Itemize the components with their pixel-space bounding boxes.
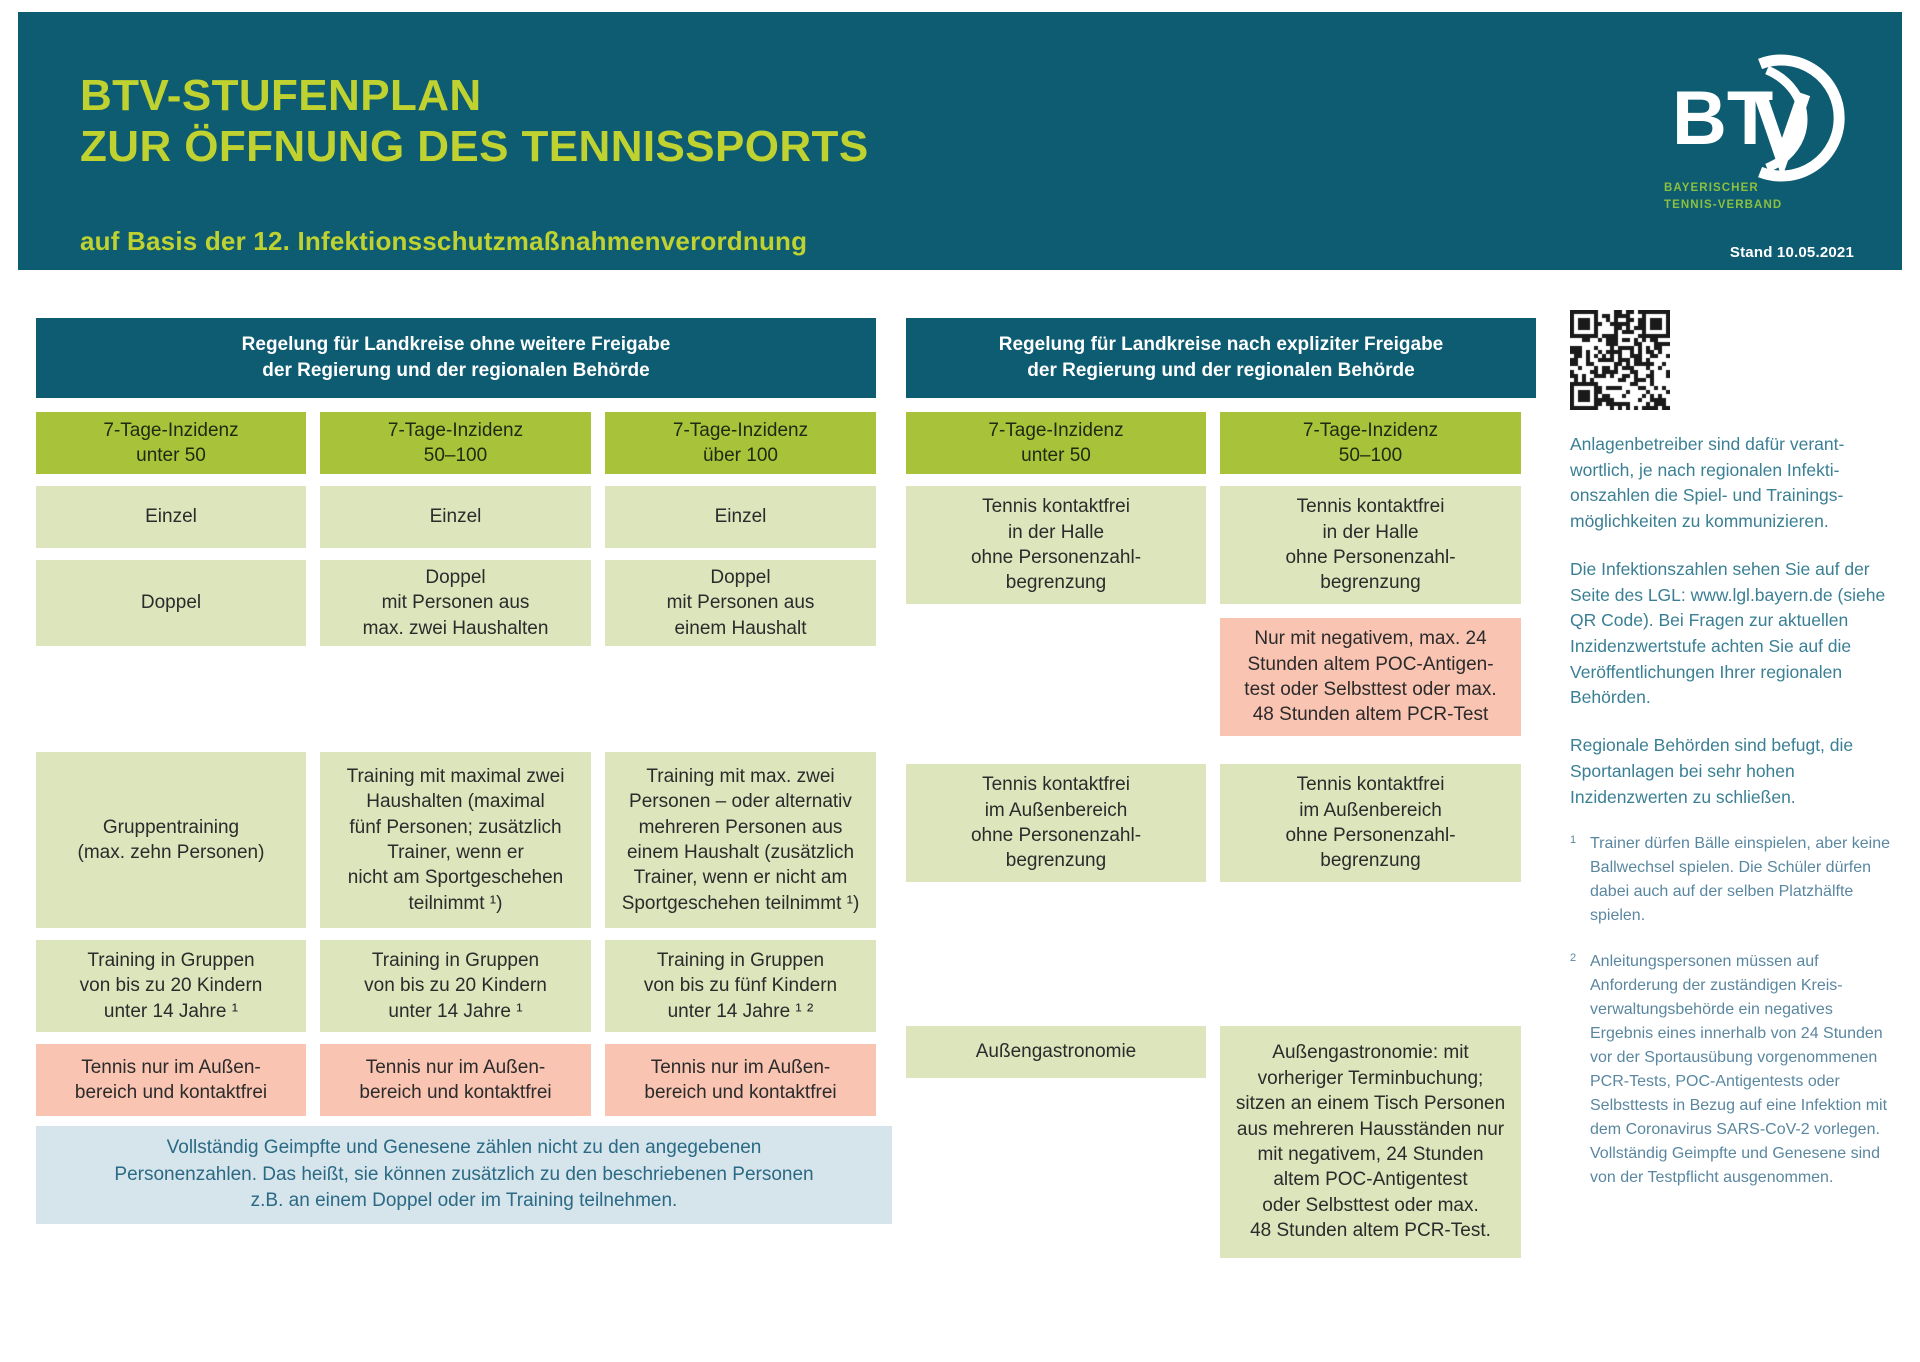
table-left: Regelung für Landkreise ohne weitere Fre… [36, 318, 876, 1224]
table-left-row-kids: Training in Gruppenvon bis zu 20 Kindern… [36, 940, 876, 1032]
cell-double-2: Doppelmit Personen ausmax. zwei Haushalt… [320, 560, 591, 646]
title-line-2: ZUR ÖFFNUNG DES TENNISSPORTS [80, 121, 1280, 172]
footnote-1-text: Trainer dürfen Bälle einspielen, aber ke… [1590, 835, 1890, 924]
cell-single-3: Einzel [605, 486, 876, 548]
sidebar-paragraph-1: Anlagenbetreiber sind dafür verant­wortl… [1570, 432, 1900, 535]
table-left-row-single: Einzel Einzel Einzel [36, 486, 876, 548]
sidebar: Anlagenbetreiber sind dafür verant­wortl… [1570, 310, 1900, 1190]
footnote-2-marker: 2 [1570, 950, 1576, 967]
table-left-row-incidence: 7-Tage-Inzidenzunter 50 7-Tage-Inzidenz5… [36, 412, 876, 474]
footnote-2-text: Anleitungspersonen müssen auf Anforderun… [1590, 953, 1887, 1186]
table-left-row-training: Gruppentraining(max. zehn Personen) Trai… [36, 752, 876, 928]
page-title: BTV-STUFENPLAN ZUR ÖFFNUNG DES TENNISSPO… [80, 70, 1280, 172]
btv-logo-icon: BT [1664, 48, 1854, 188]
table-right-row-indoor: Tennis kontaktfreiin der Halleohne Perso… [906, 486, 1536, 604]
stand-date: Stand 10.05.2021 [1730, 244, 1854, 261]
logo-sub-line-1: BAYERISCHER [1664, 182, 1759, 194]
table-right-heading-line-2: der Regierung und der regionalen Behörde [1027, 360, 1414, 381]
cell-outdoor-1: Tennis nur im Außen-bereich und kontaktf… [36, 1044, 306, 1116]
cell-incidence-2: 7-Tage-Inzidenz50–100 [320, 412, 591, 474]
cell-r-gastro-2: Außengastronomie: mitvorheriger Terminbu… [1220, 1026, 1521, 1258]
cell-training-2: Training mit maximal zweiHaushalten (max… [320, 752, 591, 928]
footnote-1: 1 Trainer dürfen Bälle einspielen, aber … [1570, 832, 1900, 928]
cell-incidence-3: 7-Tage-Inzidenzüber 100 [605, 412, 876, 474]
cell-training-1: Gruppentraining(max. zehn Personen) [36, 752, 306, 928]
qr-code-icon [1570, 310, 1670, 410]
table-left-heading-line-2: der Regierung und der regionalen Behörde [262, 360, 649, 381]
cell-training-3: Training mit max. zweiPersonen – oder al… [605, 752, 876, 928]
cell-r-gastro-1: Außengastronomie [906, 1026, 1206, 1078]
vaccinated-note: Vollständig Geimpfte und Genesene zählen… [36, 1126, 892, 1224]
cell-r-outdoor-1: Tennis kontaktfreiim Außenbereichohne Pe… [906, 764, 1206, 882]
logo-sub-line-2: TENNIS-VERBAND [1664, 199, 1782, 211]
cell-outdoor-2: Tennis nur im Außen-bereich und kontaktf… [320, 1044, 591, 1116]
table-right-heading: Regelung für Landkreise nach expliziter … [906, 318, 1536, 398]
cell-single-2: Einzel [320, 486, 591, 548]
cell-kids-3: Training in Gruppenvon bis zu fünf Kinde… [605, 940, 876, 1032]
cell-r-test-2: Nur mit negativem, max. 24Stunden altem … [1220, 618, 1521, 736]
table-right-row-outdoor: Tennis kontaktfreiim Außenbereichohne Pe… [906, 764, 1536, 882]
table-left-row-outdoor: Tennis nur im Außen-bereich und kontaktf… [36, 1044, 876, 1116]
logo-subtitle: BAYERISCHER TENNIS-VERBAND [1664, 180, 1854, 213]
cell-r-indoor-2: Tennis kontaktfreiin der Halleohne Perso… [1220, 486, 1521, 604]
cell-r-test-1 [906, 618, 1206, 736]
sidebar-paragraph-2: Die Infektionszahlen sehen Sie auf der S… [1570, 557, 1900, 711]
header-banner: BTV-STUFENPLAN ZUR ÖFFNUNG DES TENNISSPO… [18, 12, 1902, 270]
sidebar-paragraph-3: Regionale Behörden sind befugt, die Spor… [1570, 733, 1900, 810]
cell-single-1: Einzel [36, 486, 306, 548]
cell-kids-2: Training in Gruppenvon bis zu 20 Kindern… [320, 940, 591, 1032]
cell-r-indoor-1: Tennis kontaktfreiin der Halleohne Perso… [906, 486, 1206, 604]
table-right-row-gastro: Außengastronomie Außengastronomie: mitvo… [906, 1026, 1536, 1258]
footnote-2: 2 Anleitungspersonen müssen auf Anforder… [1570, 950, 1900, 1190]
cell-r-incidence-1: 7-Tage-Inzidenzunter 50 [906, 412, 1206, 474]
footnote-1-marker: 1 [1570, 832, 1576, 849]
table-right-heading-line-1: Regelung für Landkreise nach expliziter … [999, 334, 1444, 355]
table-right-row-test: Nur mit negativem, max. 24Stunden altem … [906, 618, 1536, 736]
cell-kids-1: Training in Gruppenvon bis zu 20 Kindern… [36, 940, 306, 1032]
infographic-page: BTV-STUFENPLAN ZUR ÖFFNUNG DES TENNISSPO… [0, 0, 1920, 1362]
cell-r-incidence-2: 7-Tage-Inzidenz50–100 [1220, 412, 1521, 474]
table-left-row-double: Doppel Doppelmit Personen ausmax. zwei H… [36, 560, 876, 646]
btv-logo: BT [1664, 48, 1854, 188]
table-left-heading: Regelung für Landkreise ohne weitere Fre… [36, 318, 876, 398]
title-line-1: BTV-STUFENPLAN [80, 71, 482, 120]
table-right-row-incidence: 7-Tage-Inzidenzunter 50 7-Tage-Inzidenz5… [906, 412, 1536, 474]
cell-incidence-1: 7-Tage-Inzidenzunter 50 [36, 412, 306, 474]
cell-double-1: Doppel [36, 560, 306, 646]
table-left-heading-line-1: Regelung für Landkreise ohne weitere Fre… [242, 334, 671, 355]
svg-text:BT: BT [1672, 76, 1773, 161]
cell-outdoor-3: Tennis nur im Außen-bereich und kontaktf… [605, 1044, 876, 1116]
cell-r-outdoor-2: Tennis kontaktfreiim Außenbereichohne Pe… [1220, 764, 1521, 882]
page-subtitle: auf Basis der 12. Infektionsschutzmaßnah… [80, 226, 807, 257]
cell-double-3: Doppelmit Personen auseinem Haushalt [605, 560, 876, 646]
table-right: Regelung für Landkreise nach expliziter … [906, 318, 1536, 1258]
